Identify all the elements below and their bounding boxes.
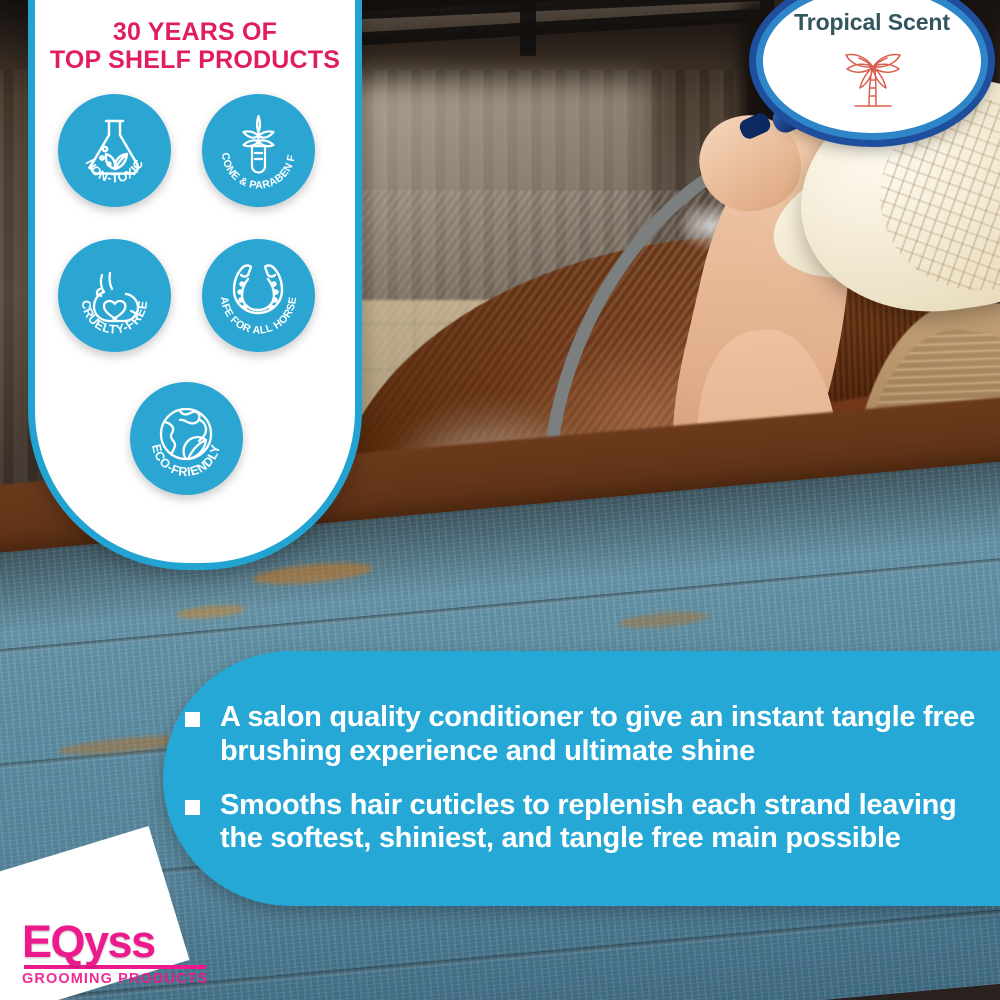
feature-panel: 30 YEARS OF TOP SHELF PRODUCTS <box>28 0 362 570</box>
palm-tree-icon <box>829 38 915 129</box>
badge-eco-friendly: ECO-FRIENDLY <box>130 382 243 495</box>
badge-label: SILICONE & PARABEN FREE <box>202 94 298 192</box>
product-marketing-image: 30 YEARS OF TOP SHELF PRODUCTS <box>0 0 1000 1000</box>
badge-cruelty-free: CRUELTY-FREE <box>58 239 171 352</box>
list-item: Smooths hair cuticles to replenish each … <box>185 789 993 857</box>
globe-leaf-icon <box>161 409 211 459</box>
brand-name: EQyss <box>22 921 237 962</box>
bullet-square-icon <box>185 712 200 727</box>
badge-safe-for-all-horses: SAFE FOR ALL HORSES <box>202 239 315 352</box>
roof-post <box>520 0 536 56</box>
benefit-text: A salon quality conditioner to give an i… <box>220 701 993 769</box>
benefits-panel: A salon quality conditioner to give an i… <box>163 651 1000 906</box>
brand-logo: EQyss GROOMING PRODUCTS <box>22 921 237 987</box>
trust-badge-grid: NON-TOXIC <box>35 94 355 514</box>
benefits-list: A salon quality conditioner to give an i… <box>163 681 993 876</box>
title-line-2: TOP SHELF PRODUCTS <box>35 46 355 74</box>
brand-tagline: GROOMING PRODUCTS <box>22 971 237 987</box>
badge-label: SAFE FOR ALL HORSES <box>202 239 299 337</box>
test-tube-leaves-icon <box>244 116 274 173</box>
benefit-text: Smooths hair cuticles to replenish each … <box>220 789 993 857</box>
bullet-square-icon <box>185 800 200 815</box>
badge-non-toxic: NON-TOXIC <box>58 94 171 207</box>
badge-silicone-paraben-free: SILICONE & PARABEN FREE <box>202 94 315 207</box>
rabbit-heart-icon <box>94 273 138 321</box>
badge-label: ECO-FRIENDLY <box>149 443 223 479</box>
horseshoe-icon <box>234 266 282 314</box>
list-item: A salon quality conditioner to give an i… <box>185 701 993 769</box>
scent-badge-label: Tropical Scent <box>794 9 950 36</box>
title-line-1: 30 YEARS OF <box>113 18 277 46</box>
page-title: 30 YEARS OF TOP SHELF PRODUCTS <box>35 18 355 74</box>
